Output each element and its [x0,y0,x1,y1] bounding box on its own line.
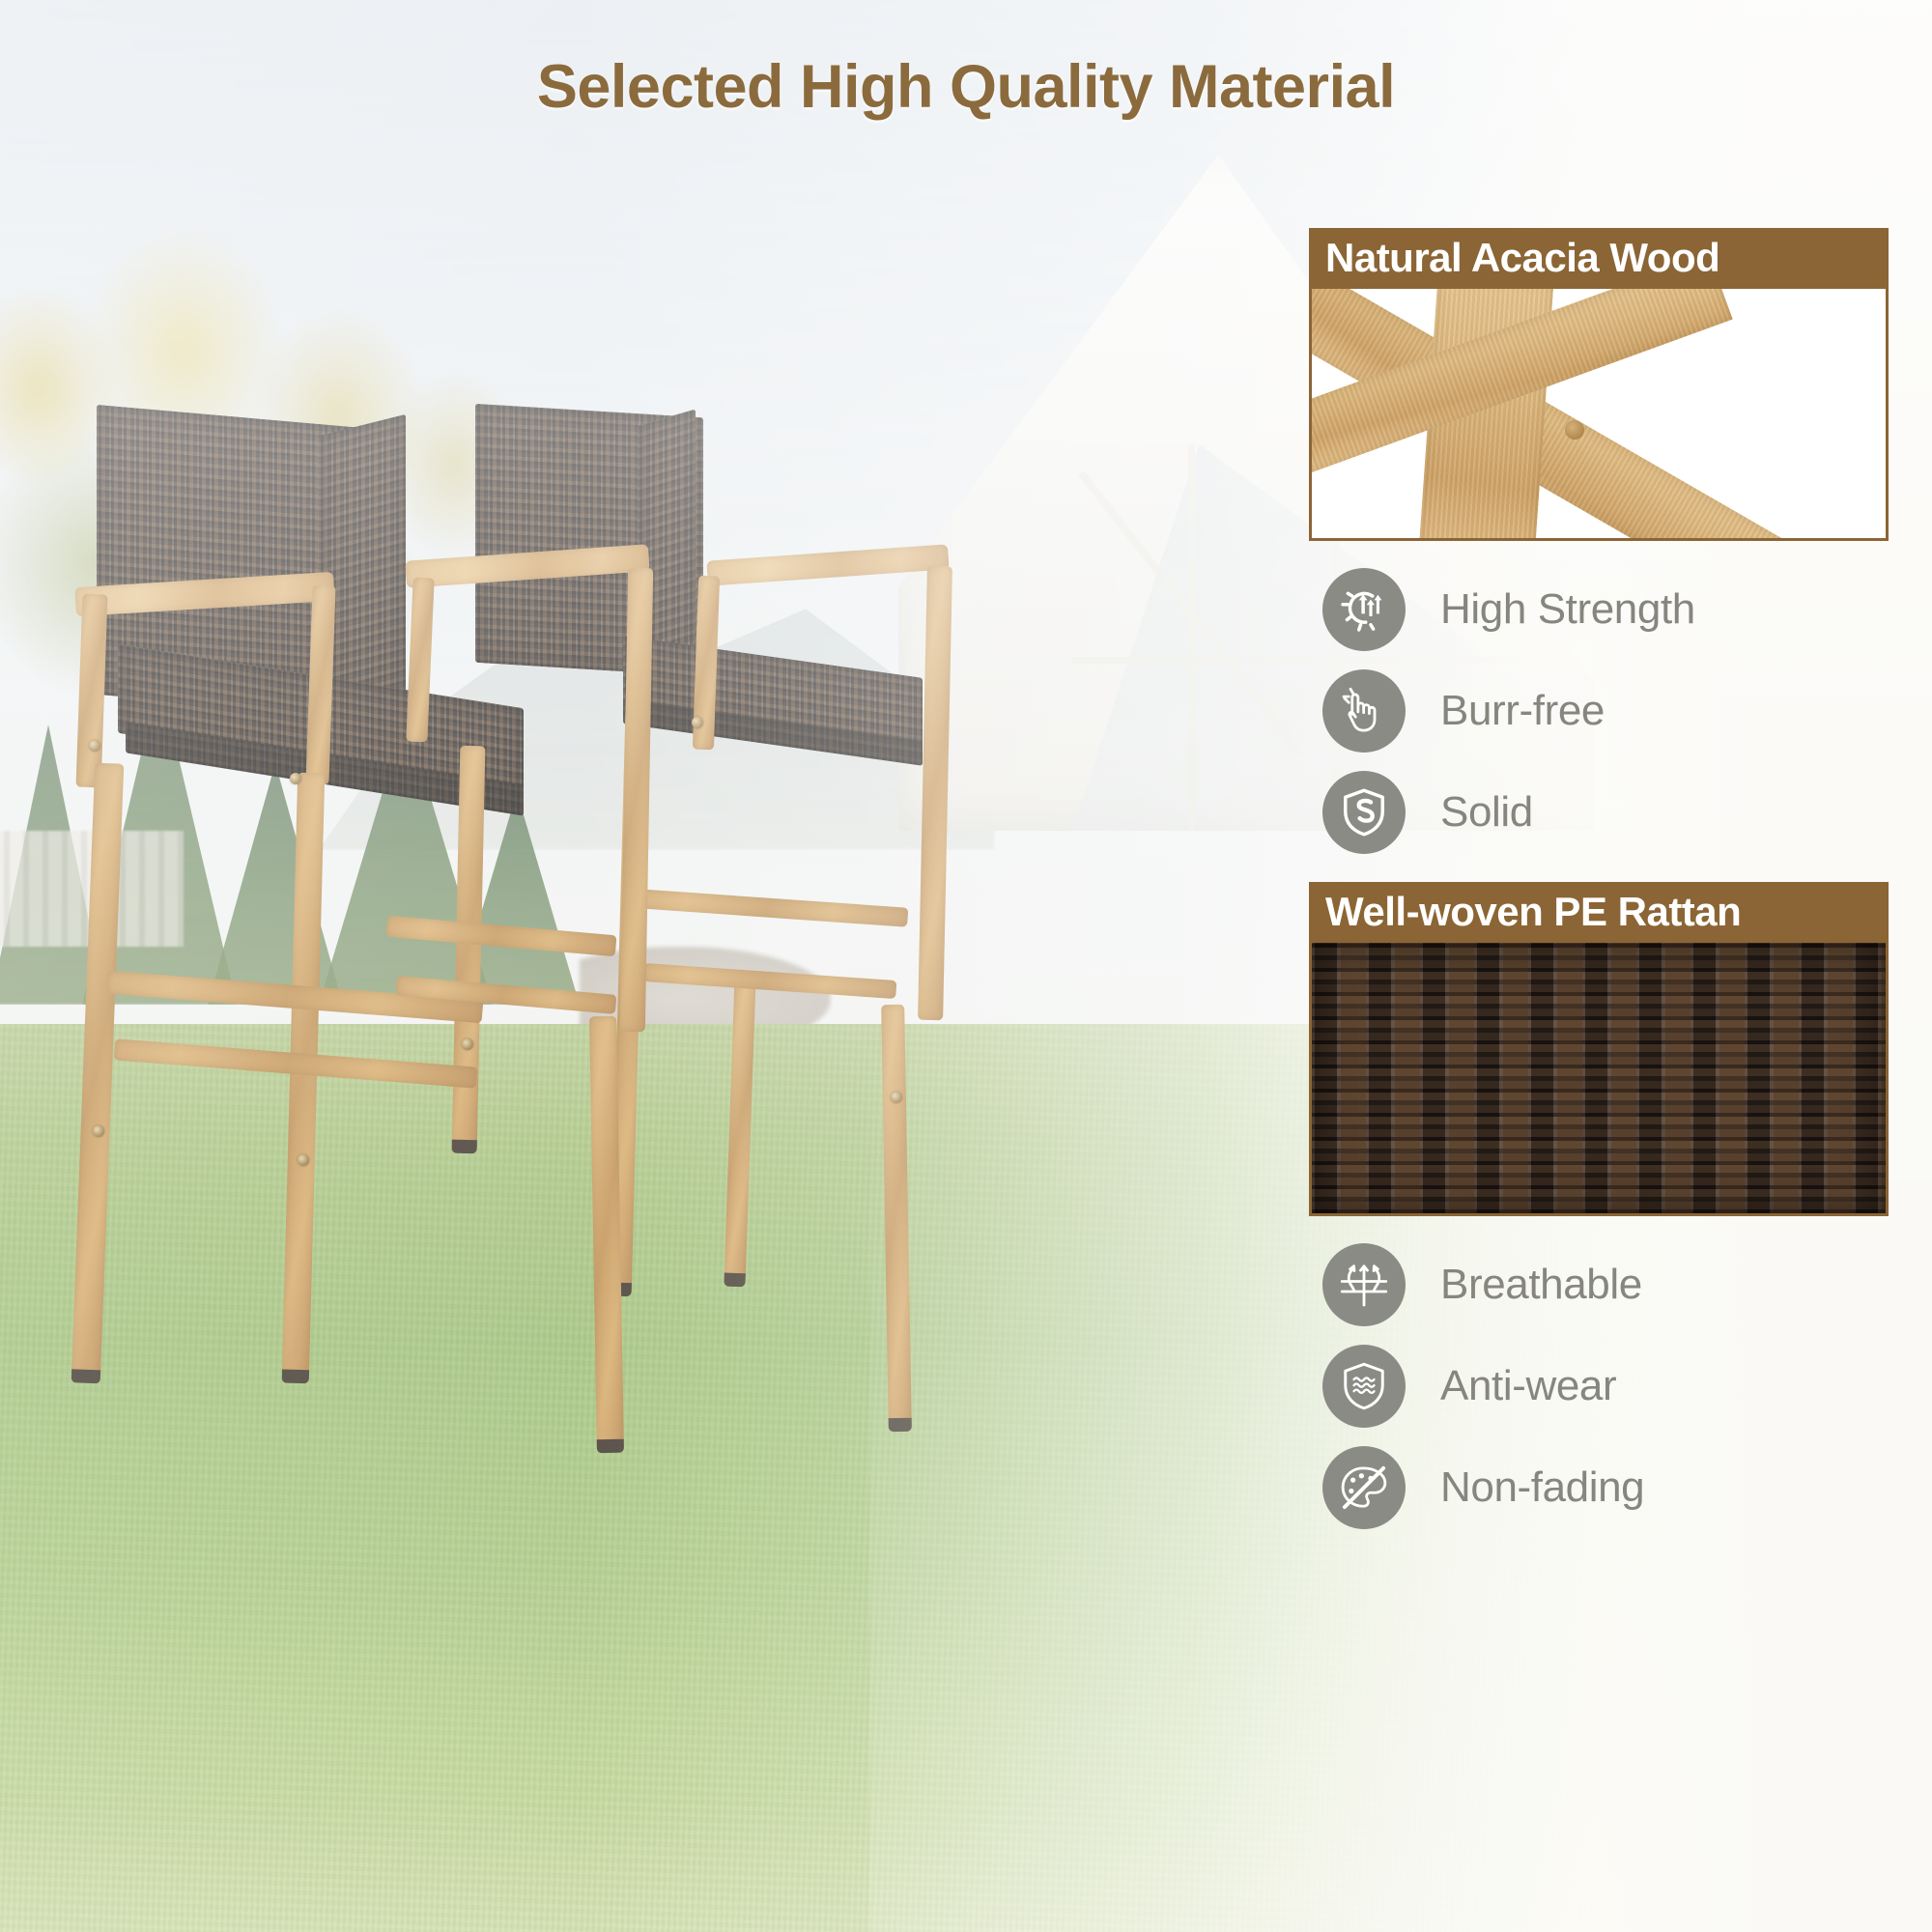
palette-brush-icon [1322,1446,1406,1529]
feature-breathable: Breathable [1322,1234,1889,1335]
hand-touch-icon [1322,669,1406,753]
feature-high-strength: High Strength [1322,558,1889,660]
pe-rattan-closeup-image [1312,943,1886,1213]
wood-feature-list: High Strength Burr-free S [1309,541,1889,872]
pe-rattan-panel: Well-woven PE Rattan [1309,882,1889,1216]
feature-burr-free: Burr-free [1322,660,1889,761]
feature-label: Non-fading [1440,1463,1644,1512]
acacia-wood-panel: Natural Acacia Wood [1309,228,1889,541]
features-column: Natural Acacia Wood High [1309,228,1889,1548]
shield-s-icon [1322,771,1406,854]
feature-label: Solid [1440,788,1533,837]
airflow-icon [1322,1243,1406,1326]
page-title: Selected High Quality Material [0,52,1932,122]
shield-waves-icon [1322,1345,1406,1428]
acacia-panel-title: Natural Acacia Wood [1312,231,1886,289]
feature-label: Breathable [1440,1261,1642,1309]
gear-arrows-icon [1322,568,1406,651]
rattan-panel-title: Well-woven PE Rattan [1312,885,1886,943]
rattan-feature-list: Breathable Anti-wear [1309,1216,1889,1548]
feature-label: High Strength [1440,585,1695,634]
feature-solid: Solid [1322,761,1889,863]
feature-non-fading: Non-fading [1322,1436,1889,1538]
feature-label: Burr-free [1440,687,1605,735]
feature-label: Anti-wear [1440,1362,1616,1410]
feature-anti-wear: Anti-wear [1322,1335,1889,1436]
acacia-wood-closeup-image [1312,289,1886,538]
